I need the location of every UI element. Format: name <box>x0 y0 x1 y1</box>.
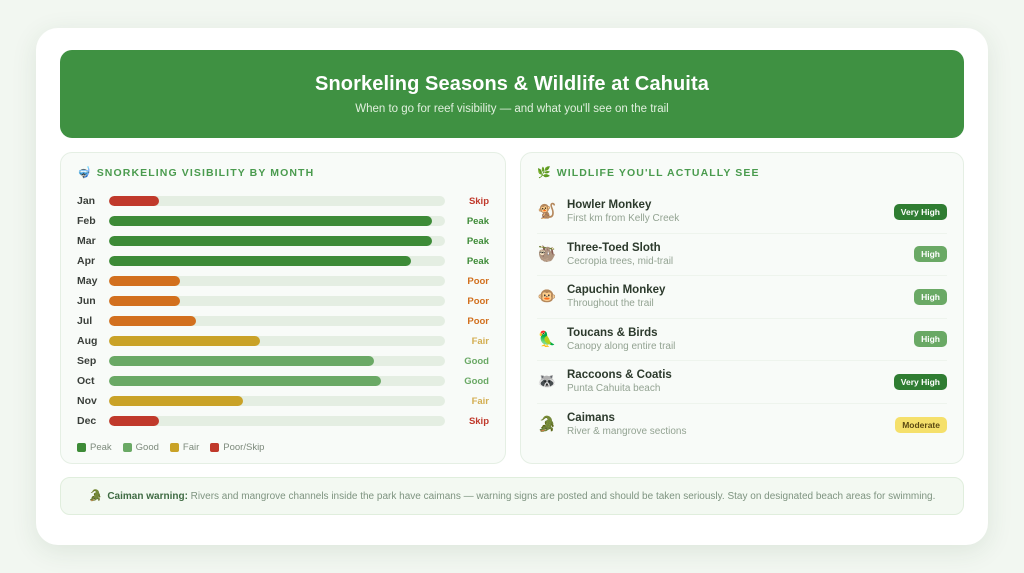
visibility-panel-header: 🤿 SNORKELING VISIBILITY BY MONTH <box>77 167 489 179</box>
bar-fill <box>109 276 180 286</box>
bar-status-label: Poor <box>455 296 489 307</box>
bar-status-label: Peak <box>455 236 489 247</box>
caiman-warning-text: Caiman warning: Rivers and mangrove chan… <box>107 491 935 502</box>
page-subtitle: When to go for reef visibility — and wha… <box>355 103 669 115</box>
bar-status-label: Good <box>455 356 489 367</box>
wildlife-row[interactable]: 🦜Toucans & BirdsCanopy along entire trai… <box>537 319 947 362</box>
bar-fill <box>109 296 180 306</box>
bar-track <box>109 256 445 266</box>
bar-fill <box>109 376 381 386</box>
bar-track <box>109 216 445 226</box>
bar-track <box>109 356 445 366</box>
wildlife-text: Raccoons & CoatisPunta Cahuita beach <box>567 369 884 394</box>
visibility-panel-title: SNORKELING VISIBILITY BY MONTH <box>97 167 315 179</box>
wildlife-text: Howler MonkeyFirst km from Kelly Creek <box>567 199 884 224</box>
bar-month-label: Oct <box>77 375 109 387</box>
bar-fill <box>109 236 432 246</box>
crocodile-icon: 🐊 <box>537 417 557 432</box>
wildlife-row[interactable]: 🐊CaimansRiver & mangrove sectionsModerat… <box>537 404 947 447</box>
legend-item: Fair <box>170 442 199 453</box>
bar-status-label: Poor <box>455 316 489 327</box>
likelihood-badge: Very High <box>894 374 947 390</box>
legend-swatch <box>170 443 179 452</box>
bar-track <box>109 236 445 246</box>
wildlife-text: Toucans & BirdsCanopy along entire trail <box>567 327 904 352</box>
bar-row: NovFair <box>77 391 489 411</box>
bar-month-label: Feb <box>77 215 109 227</box>
legend-label: Peak <box>90 442 112 453</box>
page-title: Snorkeling Seasons & Wildlife at Cahuita <box>315 73 709 96</box>
bar-row: AprPeak <box>77 251 489 271</box>
bar-row: SepGood <box>77 351 489 371</box>
likelihood-badge: High <box>914 331 947 347</box>
crocodile-icon: 🐊 <box>89 491 103 502</box>
wildlife-panel: 🌿 WILDLIFE YOU'LL ACTUALLY SEE 🐒Howler M… <box>520 152 964 464</box>
bar-month-label: May <box>77 275 109 287</box>
monkey-face-icon: 🐵 <box>537 289 557 304</box>
likelihood-badge: Very High <box>894 204 947 220</box>
bar-row: FebPeak <box>77 211 489 231</box>
bar-month-label: Nov <box>77 395 109 407</box>
likelihood-badge: High <box>914 289 947 305</box>
bar-status-label: Skip <box>455 416 489 427</box>
bar-status-label: Skip <box>455 196 489 207</box>
wildlife-location: Cecropia trees, mid-trail <box>567 256 904 267</box>
bar-fill <box>109 216 432 226</box>
wildlife-row[interactable]: 🐵Capuchin MonkeyThroughout the trailHigh <box>537 276 947 319</box>
bar-track <box>109 276 445 286</box>
wildlife-name: Three-Toed Sloth <box>567 242 904 254</box>
legend-swatch <box>210 443 219 452</box>
bar-month-label: Jun <box>77 295 109 307</box>
bar-month-label: Apr <box>77 255 109 267</box>
bar-row: MayPoor <box>77 271 489 291</box>
wildlife-text: Capuchin MonkeyThroughout the trail <box>567 284 904 309</box>
bar-fill <box>109 256 411 266</box>
wildlife-name: Caimans <box>567 412 885 424</box>
bar-fill <box>109 336 260 346</box>
wildlife-row[interactable]: 🐒Howler MonkeyFirst km from Kelly CreekV… <box>537 191 947 234</box>
wildlife-location: First km from Kelly Creek <box>567 213 884 224</box>
legend-swatch <box>77 443 86 452</box>
wildlife-name: Capuchin Monkey <box>567 284 904 296</box>
likelihood-badge: Moderate <box>895 417 947 433</box>
bar-row: AugFair <box>77 331 489 351</box>
caiman-warning-label: Caiman warning: <box>107 491 188 502</box>
legend-item: Poor/Skip <box>210 442 264 453</box>
bar-track <box>109 316 445 326</box>
header-banner: Snorkeling Seasons & Wildlife at Cahuita… <box>60 50 964 138</box>
bar-status-label: Poor <box>455 276 489 287</box>
bar-row: OctGood <box>77 371 489 391</box>
content-columns: 🤿 SNORKELING VISIBILITY BY MONTH JanSkip… <box>60 152 964 464</box>
bar-row: JulPoor <box>77 311 489 331</box>
bar-fill <box>109 396 243 406</box>
bar-status-label: Fair <box>455 396 489 407</box>
bar-month-label: Jan <box>77 195 109 207</box>
visibility-bar-chart: JanSkipFebPeakMarPeakAprPeakMayPoorJunPo… <box>77 191 489 431</box>
leaf-icon: 🌿 <box>537 168 551 179</box>
bar-track <box>109 296 445 306</box>
bar-status-label: Peak <box>455 256 489 267</box>
wildlife-row[interactable]: 🦥Three-Toed SlothCecropia trees, mid-tra… <box>537 234 947 277</box>
bar-month-label: Aug <box>77 335 109 347</box>
wildlife-location: Canopy along entire trail <box>567 341 904 352</box>
wildlife-list: 🐒Howler MonkeyFirst km from Kelly CreekV… <box>537 191 947 446</box>
app-card: Snorkeling Seasons & Wildlife at Cahuita… <box>36 28 988 545</box>
bar-month-label: Mar <box>77 235 109 247</box>
bar-fill <box>109 316 196 326</box>
diving-mask-icon: 🤿 <box>77 168 91 179</box>
parrot-icon: 🦜 <box>537 332 557 347</box>
legend-label: Poor/Skip <box>223 442 264 453</box>
wildlife-row[interactable]: 🦝Raccoons & CoatisPunta Cahuita beachVer… <box>537 361 947 404</box>
sloth-icon: 🦥 <box>537 247 557 262</box>
bar-month-label: Sep <box>77 355 109 367</box>
likelihood-badge: High <box>914 246 947 262</box>
bar-track <box>109 196 445 206</box>
legend-label: Fair <box>183 442 199 453</box>
visibility-panel: 🤿 SNORKELING VISIBILITY BY MONTH JanSkip… <box>60 152 506 464</box>
wildlife-text: CaimansRiver & mangrove sections <box>567 412 885 437</box>
bar-status-label: Fair <box>455 336 489 347</box>
bar-track <box>109 396 445 406</box>
bar-fill <box>109 356 374 366</box>
caiman-warning-body: Rivers and mangrove channels inside the … <box>188 491 935 502</box>
wildlife-location: Punta Cahuita beach <box>567 383 884 394</box>
bar-fill <box>109 416 159 426</box>
bar-status-label: Good <box>455 376 489 387</box>
wildlife-name: Howler Monkey <box>567 199 884 211</box>
caiman-warning-banner: 🐊 Caiman warning: Rivers and mangrove ch… <box>60 477 964 515</box>
legend-swatch <box>123 443 132 452</box>
wildlife-text: Three-Toed SlothCecropia trees, mid-trai… <box>567 242 904 267</box>
bar-month-label: Dec <box>77 415 109 427</box>
bar-track <box>109 336 445 346</box>
bar-track <box>109 416 445 426</box>
raccoon-icon: 🦝 <box>537 374 557 389</box>
bar-row: JanSkip <box>77 191 489 211</box>
bar-fill <box>109 196 159 206</box>
bar-track <box>109 376 445 386</box>
wildlife-location: Throughout the trail <box>567 298 904 309</box>
monkey-icon: 🐒 <box>537 204 557 219</box>
wildlife-panel-title: WILDLIFE YOU'LL ACTUALLY SEE <box>557 167 760 179</box>
wildlife-location: River & mangrove sections <box>567 426 885 437</box>
wildlife-name: Raccoons & Coatis <box>567 369 884 381</box>
chart-legend: PeakGoodFairPoor/Skip <box>77 442 489 453</box>
bar-row: MarPeak <box>77 231 489 251</box>
legend-label: Good <box>136 442 159 453</box>
legend-item: Good <box>123 442 159 453</box>
bar-row: DecSkip <box>77 411 489 431</box>
bar-row: JunPoor <box>77 291 489 311</box>
wildlife-panel-header: 🌿 WILDLIFE YOU'LL ACTUALLY SEE <box>537 167 947 179</box>
bar-status-label: Peak <box>455 216 489 227</box>
wildlife-name: Toucans & Birds <box>567 327 904 339</box>
legend-item: Peak <box>77 442 112 453</box>
bar-month-label: Jul <box>77 315 109 327</box>
